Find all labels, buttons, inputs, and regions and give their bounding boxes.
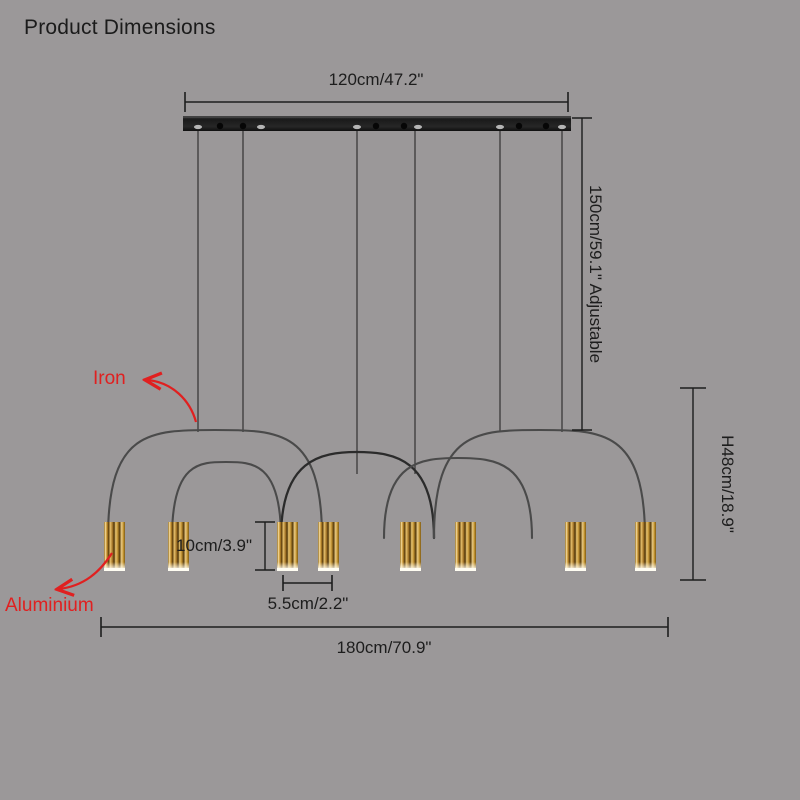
dimension-overall-width-label: 180cm/70.9" xyxy=(337,638,432,657)
iron-callout: Iron xyxy=(93,368,196,422)
lamp-shade-cylinder xyxy=(277,522,298,571)
lamp-shade-cylinder xyxy=(318,522,339,571)
arc-tube-5 xyxy=(434,430,645,538)
aluminium-callout: Aluminium xyxy=(5,553,112,616)
dimension-arc-height-label: H48cm/18.9" xyxy=(718,435,737,533)
dimension-suspension-height-label: 150cm/59.1" Adjustable xyxy=(586,185,605,363)
dimension-shade-spacing-label: 5.5cm/2.2" xyxy=(268,594,349,613)
lamp-shade-cylinder xyxy=(104,522,125,571)
lamp-shade-cylinder xyxy=(565,522,586,571)
dimension-canopy-width: 120cm/47.2" xyxy=(185,70,568,112)
ceiling-canopy-bar xyxy=(183,116,571,131)
dimension-arc-height: H48cm/18.9" xyxy=(680,388,737,580)
aluminium-callout-label: Aluminium xyxy=(5,595,94,616)
dimension-shade-spacing: 5.5cm/2.2" xyxy=(268,575,349,613)
diagram-canvas: Product Dimensions xyxy=(0,0,800,800)
product-dimension-diagram: 120cm/47.2" xyxy=(0,0,800,800)
lamp-shade-cylinder xyxy=(635,522,656,571)
lamp-shade-cylinder xyxy=(400,522,421,571)
dimension-shade-height-label: 10cm/3.9" xyxy=(176,536,252,555)
iron-callout-label: Iron xyxy=(93,368,126,389)
dimension-shade-height: 10cm/3.9" xyxy=(176,522,275,570)
dimension-overall-width: 180cm/70.9" xyxy=(101,617,668,657)
lamp-shade-cylinder xyxy=(455,522,476,571)
dimension-canopy-width-label: 120cm/47.2" xyxy=(329,70,424,89)
dimension-suspension-height: 150cm/59.1" Adjustable xyxy=(572,118,605,430)
suspension-wires xyxy=(198,131,562,474)
